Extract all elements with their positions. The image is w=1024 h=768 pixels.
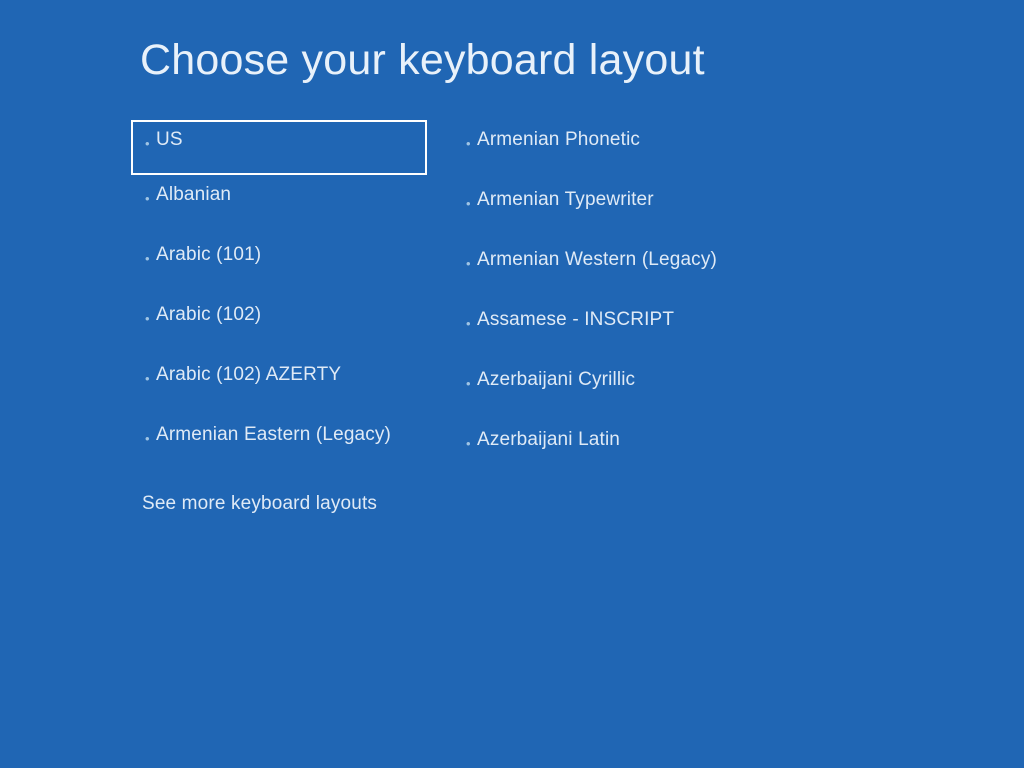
keyboard-layout-column-2: Armenian Phonetic Armenian Typewriter Ar… <box>462 120 782 480</box>
keyboard-layout-option-label: Armenian Eastern (Legacy) <box>156 423 391 447</box>
bullet-icon <box>466 437 477 450</box>
keyboard-layout-option-azerbaijani-cyrillic[interactable]: Azerbaijani Cyrillic <box>462 360 782 420</box>
keyboard-layout-option-arabic-101[interactable]: Arabic (101) <box>131 235 427 295</box>
keyboard-layout-option-armenian-eastern-legacy[interactable]: Armenian Eastern (Legacy) <box>131 415 427 475</box>
bullet-icon <box>145 192 156 205</box>
see-more-keyboard-layouts-link[interactable]: See more keyboard layouts <box>142 492 377 516</box>
keyboard-layout-option-albanian[interactable]: Albanian <box>131 175 427 235</box>
keyboard-layout-option-label: Arabic (101) <box>156 243 261 267</box>
keyboard-layout-screen: Choose your keyboard layout US Albanian … <box>0 0 1024 768</box>
bullet-icon <box>145 312 156 325</box>
keyboard-layout-option-armenian-western-legacy[interactable]: Armenian Western (Legacy) <box>462 240 782 300</box>
keyboard-layout-option-azerbaijani-latin[interactable]: Azerbaijani Latin <box>462 420 782 480</box>
keyboard-layout-option-label: Azerbaijani Cyrillic <box>477 368 635 392</box>
bullet-icon <box>466 197 477 210</box>
bullet-icon <box>466 137 477 150</box>
keyboard-layout-option-label: US <box>156 128 183 152</box>
keyboard-layout-column-1: US Albanian Arabic (101) Arabic (102) Ar… <box>131 120 427 475</box>
bullet-icon <box>466 317 477 330</box>
keyboard-layout-option-armenian-typewriter[interactable]: Armenian Typewriter <box>462 180 782 240</box>
bullet-icon <box>145 137 156 150</box>
keyboard-layout-option-label: Armenian Western (Legacy) <box>477 248 717 272</box>
bullet-icon <box>466 377 477 390</box>
bullet-icon <box>145 432 156 445</box>
keyboard-layout-option-label: Assamese - INSCRIPT <box>477 308 674 332</box>
bullet-icon <box>145 252 156 265</box>
bullet-icon <box>466 257 477 270</box>
keyboard-layout-option-label: Albanian <box>156 183 231 207</box>
keyboard-layout-option-label: Arabic (102) <box>156 303 261 327</box>
bullet-icon <box>145 372 156 385</box>
keyboard-layout-option-label: Armenian Phonetic <box>477 128 640 152</box>
keyboard-layout-option-arabic-102-azerty[interactable]: Arabic (102) AZERTY <box>131 355 427 415</box>
keyboard-layout-option-assamese-inscript[interactable]: Assamese - INSCRIPT <box>462 300 782 360</box>
keyboard-layout-option-armenian-phonetic[interactable]: Armenian Phonetic <box>462 120 782 180</box>
keyboard-layout-option-label: Azerbaijani Latin <box>477 428 620 452</box>
keyboard-layout-list: US Albanian Arabic (101) Arabic (102) Ar… <box>0 0 1024 768</box>
keyboard-layout-option-us[interactable]: US <box>131 120 427 175</box>
keyboard-layout-option-label: Armenian Typewriter <box>477 188 654 212</box>
keyboard-layout-option-arabic-102[interactable]: Arabic (102) <box>131 295 427 355</box>
keyboard-layout-option-label: Arabic (102) AZERTY <box>156 363 341 387</box>
